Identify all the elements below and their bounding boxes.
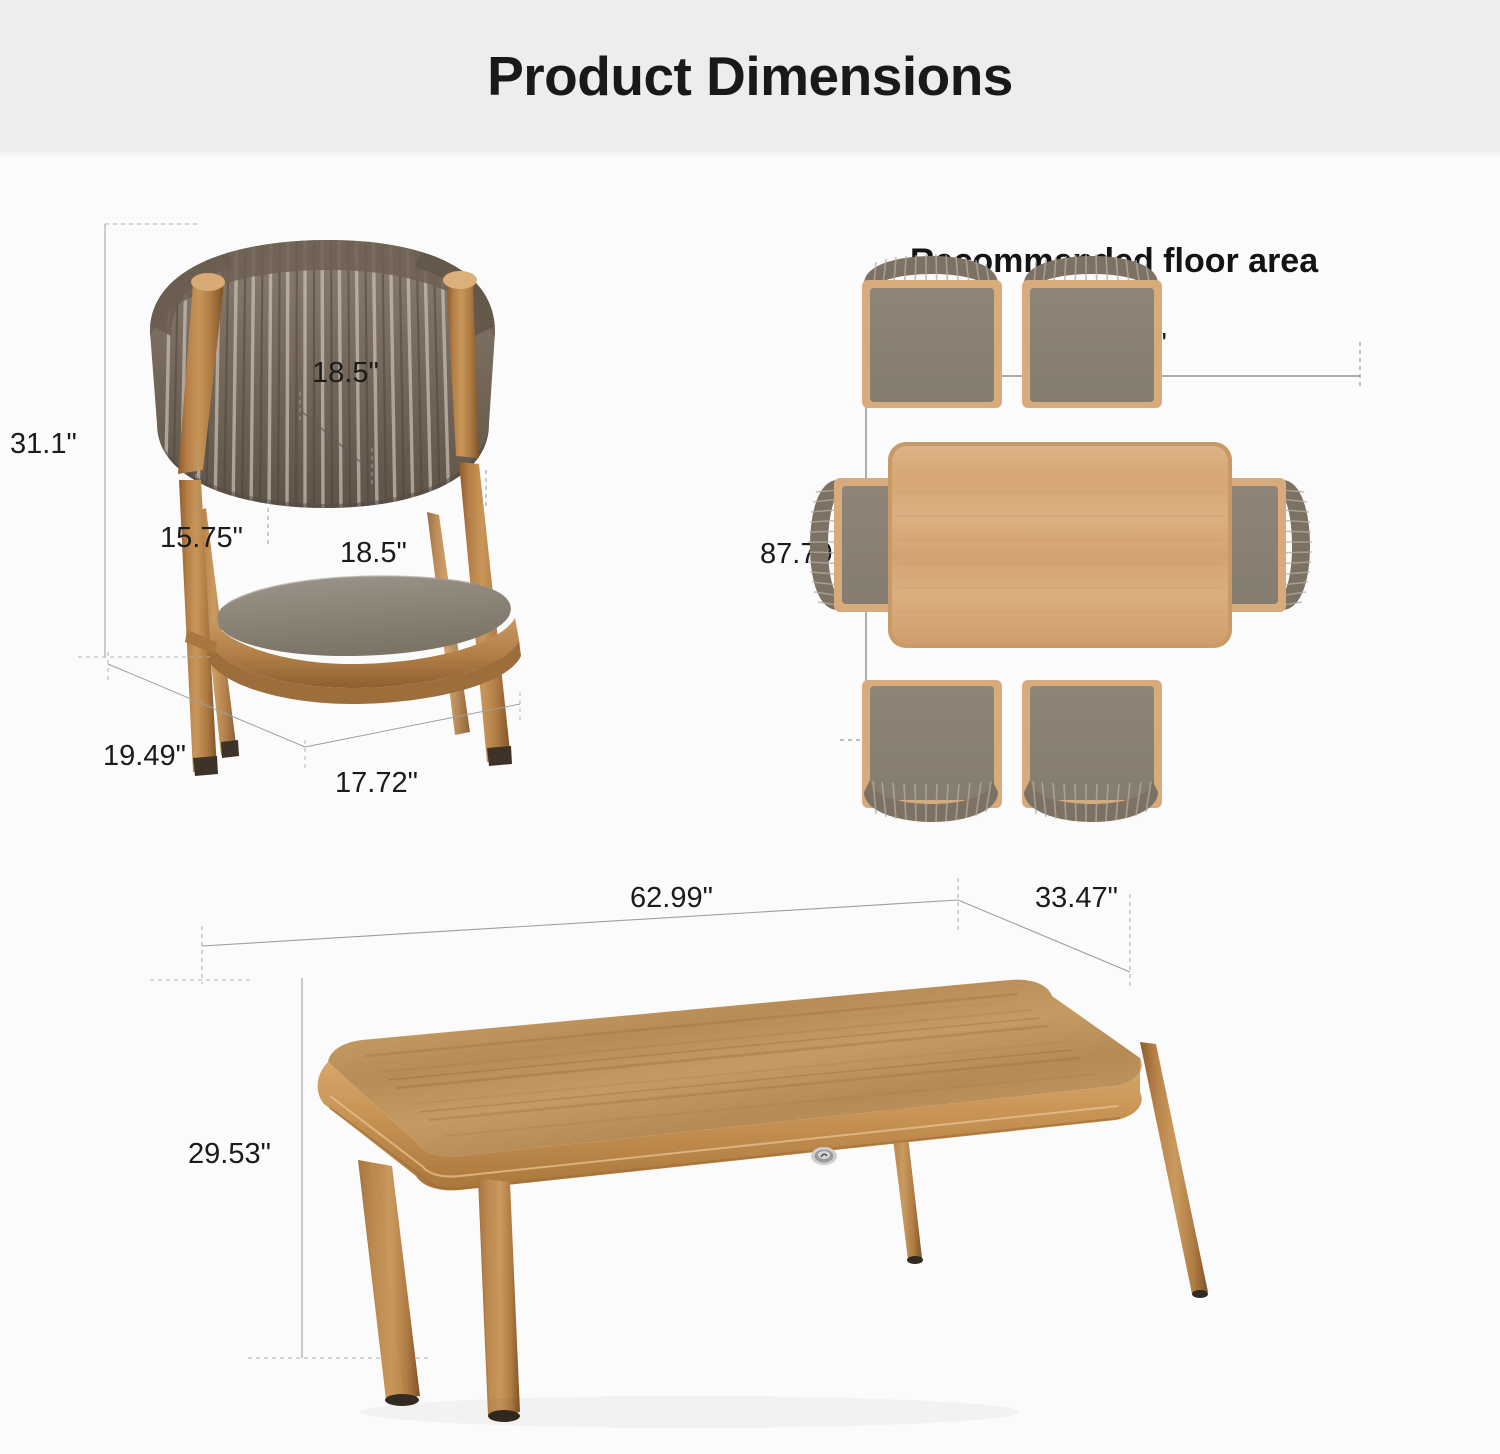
floor-chair-bottom-left bbox=[862, 680, 1002, 822]
chair-height-label: 31.1" bbox=[10, 428, 77, 461]
page-header: Product Dimensions bbox=[0, 0, 1500, 152]
product-dimensions-page: Product Dimensions bbox=[0, 0, 1500, 1454]
chair-width-label: 17.72" bbox=[335, 767, 418, 800]
floor-table bbox=[888, 442, 1232, 648]
floor-chair-top-left bbox=[862, 254, 1002, 408]
floor-chair-bottom-right bbox=[1022, 680, 1162, 822]
table-illustration bbox=[130, 860, 1380, 1440]
chair-depth-label: 19.49" bbox=[103, 740, 186, 773]
floor-area-plan bbox=[740, 180, 1440, 800]
chair-seat-width-label: 18.5" bbox=[340, 537, 407, 570]
chair-seat-depth-label: 18.5" bbox=[312, 357, 379, 390]
chair-seat-height-label: 15.75" bbox=[160, 522, 243, 555]
floor-area-diagram: Recommended floor area 115.38" 87.79" bbox=[740, 180, 1440, 800]
chair-diagram: 31.1" 18.5" 15.75" 18.5" 19.49" 17.72" bbox=[0, 152, 720, 852]
floor-chair-top-right bbox=[1022, 254, 1162, 408]
page-title: Product Dimensions bbox=[487, 44, 1013, 108]
brand-emblem-icon bbox=[811, 1147, 837, 1165]
table-diagram: 62.99" 33.47" 29.53" bbox=[130, 860, 1380, 1440]
